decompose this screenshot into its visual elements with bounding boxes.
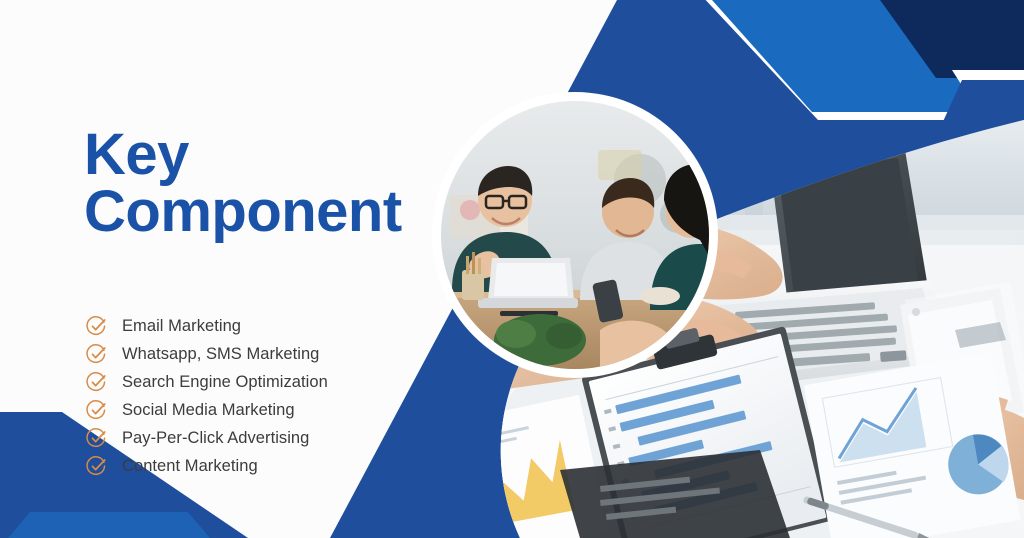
list-item-label: Content Marketing [122, 457, 258, 476]
list-item-label: Social Media Marketing [122, 401, 295, 420]
check-circle-icon [86, 372, 107, 393]
list-item[interactable]: Whatsapp, SMS Marketing [86, 340, 328, 368]
list-item[interactable]: Pay-Per-Click Advertising [86, 424, 328, 452]
list-item-label: Email Marketing [122, 317, 241, 336]
list-item-label: Search Engine Optimization [122, 373, 328, 392]
check-circle-icon [86, 316, 107, 337]
check-circle-icon [86, 400, 107, 421]
list-item[interactable]: Email Marketing [86, 312, 328, 340]
list-item[interactable]: Content Marketing [86, 452, 328, 480]
slide-canvas: Key Component Email Marketing Whatsapp, … [0, 0, 1024, 538]
check-circle-icon [86, 344, 107, 365]
text-content: Key Component Email Marketing Whatsapp, … [0, 0, 460, 538]
page-title: Key Component [84, 126, 454, 241]
check-circle-icon [86, 456, 107, 477]
feature-list: Email Marketing Whatsapp, SMS Marketing … [86, 312, 328, 480]
list-item[interactable]: Social Media Marketing [86, 396, 328, 424]
check-circle-icon [86, 428, 107, 449]
list-item-label: Pay-Per-Click Advertising [122, 429, 309, 448]
list-item-label: Whatsapp, SMS Marketing [122, 345, 319, 364]
list-item[interactable]: Search Engine Optimization [86, 368, 328, 396]
